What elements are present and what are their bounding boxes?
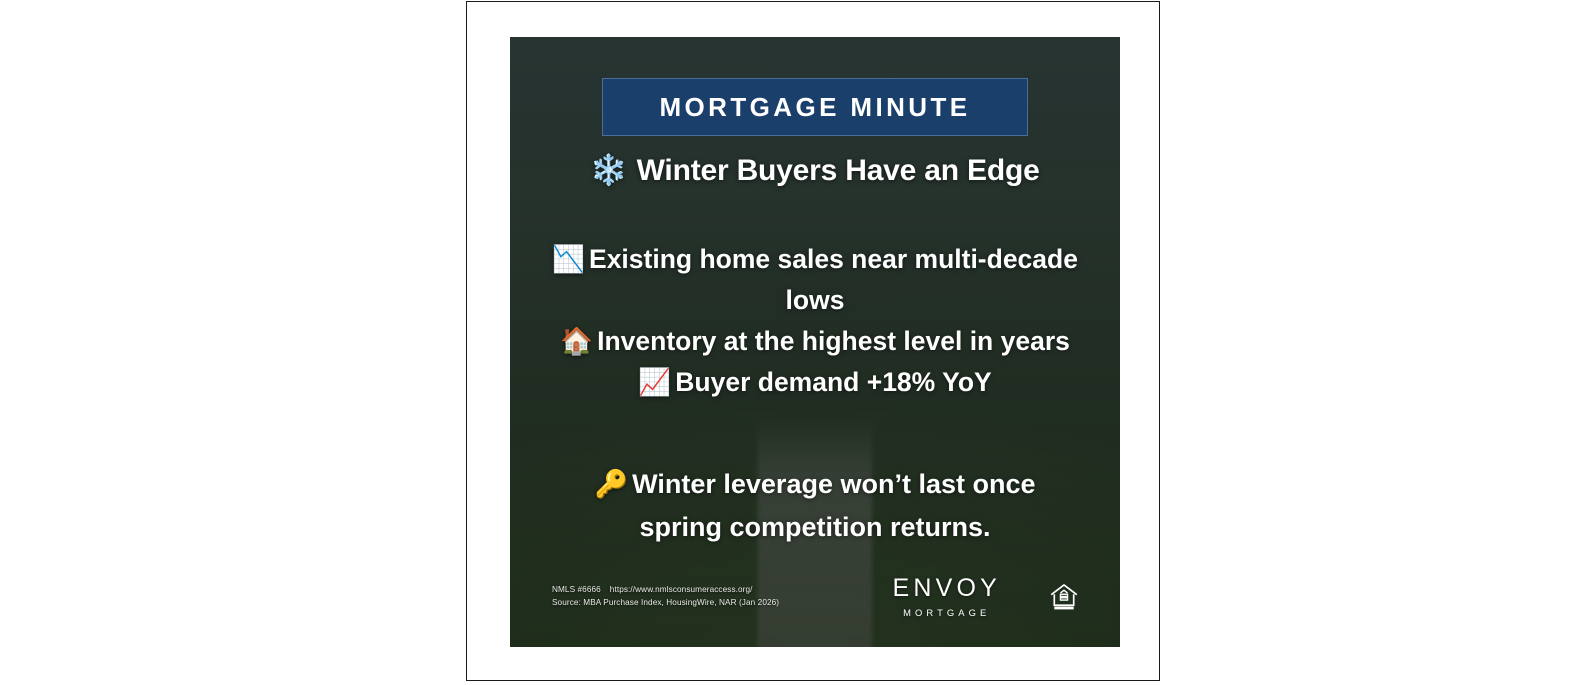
envoy-subtitle: MORTGAGE	[903, 608, 990, 617]
closing-statement: 🔑Winter leverage won’t last once spring …	[550, 463, 1080, 548]
nmls-number: NMLS #6666	[552, 585, 601, 594]
headline-text: Winter Buyers Have an Edge	[637, 154, 1040, 188]
disclosure-line-source: Source: MBA Purchase Index, HousingWire,…	[552, 596, 779, 609]
nmls-consumer-access-link[interactable]: https://www.nmlsconsumeraccess.org/	[610, 585, 753, 594]
list-item-text: Buyer demand +18% YoY	[675, 367, 991, 397]
banner-title: MORTGAGE MINUTE	[660, 92, 971, 123]
snowflake-emoji: ❄️	[590, 153, 627, 188]
envoy-mortgage-logo: ENVOY MORTGAGE	[892, 576, 1001, 617]
disclosure-line-nmls: NMLS #6666https://www.nmlsconsumeraccess…	[552, 583, 779, 596]
list-item: 📉Existing home sales near multi-decade l…	[535, 239, 1095, 321]
footer: NMLS #6666https://www.nmlsconsumeraccess…	[510, 576, 1120, 617]
equal-housing-opportunity-icon	[1049, 581, 1079, 611]
closing-statement-text: Winter leverage won’t last once spring c…	[632, 469, 1035, 542]
headline: ❄️ Winter Buyers Have an Edge	[590, 153, 1039, 188]
mortgage-minute-graphic: MORTGAGE MINUTE ❄️ Winter Buyers Have an…	[510, 37, 1120, 647]
disclosure-text: NMLS #6666https://www.nmlsconsumeraccess…	[552, 583, 779, 610]
envoy-wordmark: ENVOY	[892, 576, 1001, 601]
footer-brand-group: ENVOY MORTGAGE	[892, 576, 1079, 617]
list-item-text: Existing home sales near multi-decade lo…	[589, 244, 1078, 315]
house-emoji: 🏠	[560, 326, 593, 356]
chart-increasing-emoji: 📈	[638, 367, 671, 397]
document-page: MORTGAGE MINUTE ❄️ Winter Buyers Have an…	[466, 1, 1160, 681]
list-item: 📈Buyer demand +18% YoY	[535, 362, 1095, 403]
list-item: 🏠Inventory at the highest level in years	[535, 321, 1095, 362]
mortgage-minute-banner: MORTGAGE MINUTE	[602, 78, 1028, 136]
chart-decreasing-emoji: 📉	[552, 244, 585, 274]
creative-content: MORTGAGE MINUTE ❄️ Winter Buyers Have an…	[510, 37, 1120, 647]
key-emoji: 🔑	[595, 469, 629, 499]
bullet-list: 📉Existing home sales near multi-decade l…	[535, 239, 1095, 403]
list-item-text: Inventory at the highest level in years	[597, 326, 1070, 356]
